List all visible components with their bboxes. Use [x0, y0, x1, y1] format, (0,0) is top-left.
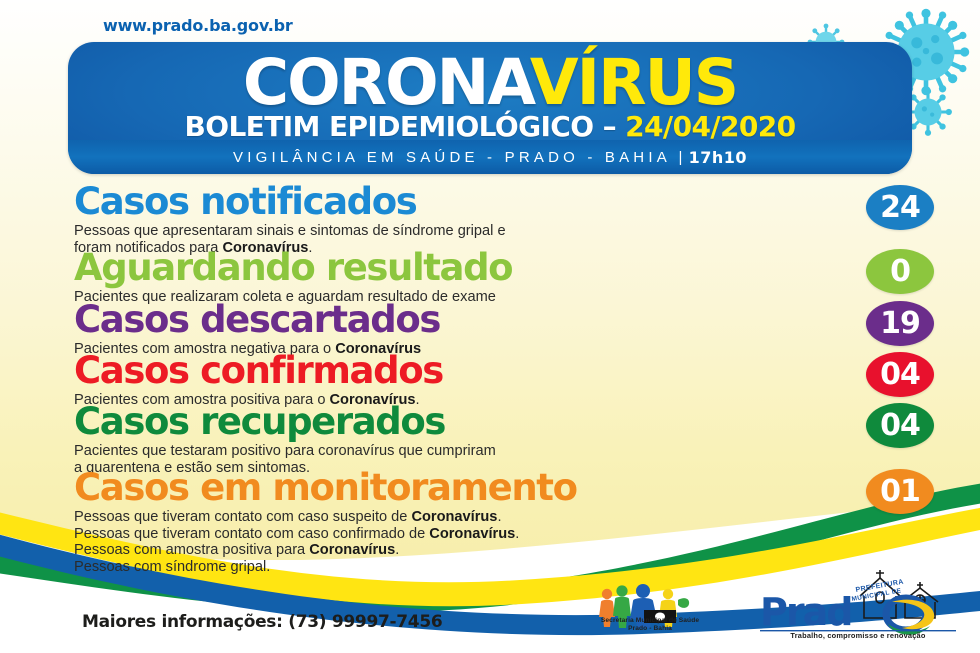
stat-label: Casos em monitoramento [74, 469, 980, 506]
desc-line-3b: Coronavírus [309, 542, 395, 558]
desc-line-2c: . [515, 526, 519, 542]
website-url[interactable]: www.prado.ba.gov.br [103, 16, 293, 35]
stat-label: Casos recuperados [74, 403, 980, 440]
stat-row-casos-descartados: Casos descartados Pacientes com amostra … [0, 301, 980, 352]
stat-row-casos-em-monitoramento: Casos em monitoramento Pessoas que tiver… [0, 469, 980, 559]
title-virus: VÍRUS [530, 46, 737, 119]
stat-badge: 19 [866, 301, 934, 346]
poster-subtitle: BOLETIM EPIDEMIOLÓGICO – 24/04/2020 [185, 112, 796, 142]
bulletin-time: 17h10 [689, 148, 747, 167]
logo-prefeitura-prado: PREFEITURA MUNICIPAL DE Prad Trabalho, c… [752, 562, 964, 642]
stat-badge: 01 [866, 469, 934, 514]
desc-line-1: Pacientes que testaram positivo para cor… [74, 443, 496, 459]
desc-line-4: Pessoas com síndrome gripal. [74, 559, 270, 575]
header-location-strip: VIGILÂNCIA EM SAÚDE - PRADO - BAHIA | 17… [68, 140, 912, 174]
title-corona: CORONA [243, 46, 530, 119]
stat-label: Casos confirmados [74, 352, 980, 389]
desc-line-3c: . [395, 542, 399, 558]
desc-line-1a: Pessoas que tiveram contato com caso sus… [74, 509, 411, 525]
desc-line-1b: Coronavírus [411, 509, 497, 525]
poster-title: CORONAVÍRUS [243, 50, 737, 116]
desc-line-1c: . [497, 509, 501, 525]
desc-line-2a: Pessoas que tiveram contato com caso con… [74, 526, 429, 542]
logo-prado-tagline: Trabalho, compromisso e renovação [752, 631, 964, 640]
prado-church-icon: PREFEITURA MUNICIPAL DE Prad [752, 562, 964, 642]
logo-secretaria-saude: Secretaria Municipal de Saúde Prado - Ba… [565, 583, 735, 645]
stat-badge: 24 [866, 185, 934, 230]
stat-label: Casos notificados [74, 183, 980, 220]
desc-line-1: Pessoas que apresentaram sinais e sintom… [74, 223, 506, 239]
stat-row-casos-notificados: Casos notificados Pessoas que apresentar… [0, 183, 980, 249]
contact-info: Maiores informações: (73) 99997-7456 [82, 612, 442, 632]
logo-prado-name: Prad [760, 590, 851, 634]
desc-line-2b: Coronavírus [429, 526, 515, 542]
logo-saude-caption-line1: Secretaria Municipal de Saúde [565, 617, 735, 624]
stats-list: Casos notificados Pessoas que apresentar… [0, 183, 980, 559]
stat-row-casos-confirmados: Casos confirmados Pacientes com amostra … [0, 352, 980, 403]
logo-saude-caption-line2: Prado - Bahia [565, 625, 735, 632]
stat-row-aguardando-resultado: Aguardando resultado Pacientes que reali… [0, 249, 980, 301]
location-label: VIGILÂNCIA EM SAÚDE - PRADO - BAHIA | [233, 149, 687, 166]
subtitle-date: 24/04/2020 [625, 110, 795, 143]
subtitle-text: BOLETIM EPIDEMIOLÓGICO – [185, 110, 626, 143]
header-banner: CORONAVÍRUS BOLETIM EPIDEMIOLÓGICO – 24/… [68, 42, 912, 174]
stat-badge: 0 [866, 249, 934, 294]
stat-label: Casos descartados [74, 301, 980, 338]
stat-badge: 04 [866, 403, 934, 448]
stat-row-casos-recuperados: Casos recuperados Pacientes que testaram… [0, 403, 980, 469]
desc-line-3a: Pessoas com amostra positiva para [74, 542, 309, 558]
stat-label: Aguardando resultado [74, 249, 980, 286]
coronavirus-bulletin-poster: www.prado.ba.gov.br [0, 0, 980, 653]
stat-badge: 04 [866, 352, 934, 397]
